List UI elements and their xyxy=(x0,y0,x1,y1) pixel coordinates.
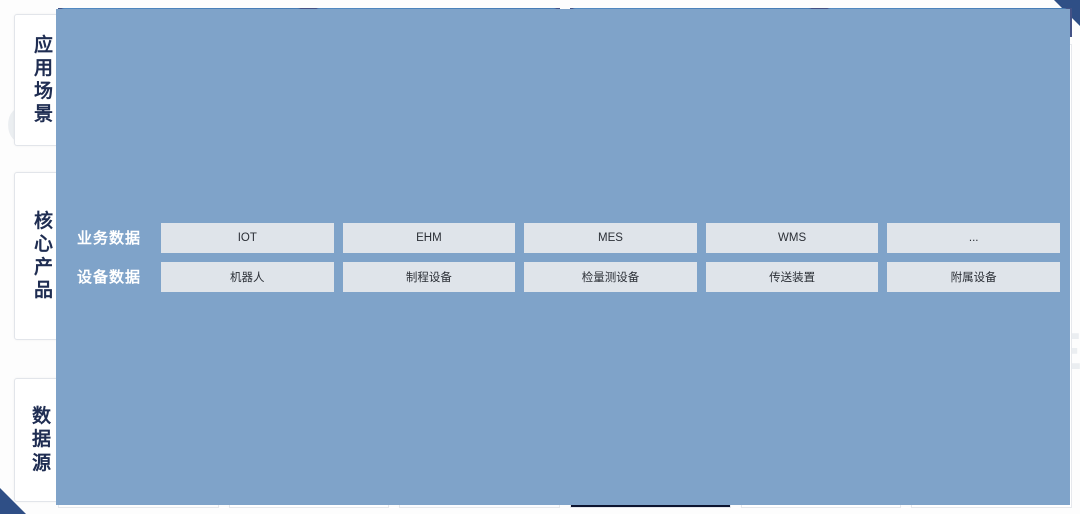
datasource-row-business: 业务数据 IOT EHM MES WMS ... xyxy=(66,223,1060,253)
app-label-char: 景 xyxy=(34,103,54,126)
datasource-cell-robot[interactable]: 机器人 xyxy=(161,262,334,292)
datasource-cell-process-equipment[interactable]: 制程设备 xyxy=(343,262,516,292)
core-label-char: 品 xyxy=(34,279,54,302)
data-label-char: 据 xyxy=(32,428,52,451)
datasource-cell-metrology-equipment[interactable]: 检量测设备 xyxy=(524,262,697,292)
datasource-grid: 业务数据 IOT EHM MES WMS ... 设备数据 机器人 制程设备 检… xyxy=(56,9,1070,505)
datasource-cell-mes[interactable]: MES xyxy=(524,223,697,253)
datasource-cell-wms[interactable]: WMS xyxy=(706,223,879,253)
app-label-char: 场 xyxy=(34,80,54,103)
data-label-char: 数 xyxy=(32,405,52,428)
datasource-row-equipment: 设备数据 机器人 制程设备 检量测设备 传送装置 附属设备 xyxy=(66,262,1060,292)
core-label-char: 心 xyxy=(34,233,54,256)
infographic-root: CHEJI CHEJI CHEJI CHEJI 应 用 场 景 异常预警 根因分… xyxy=(0,0,1080,514)
datasource-cell-iot[interactable]: IOT xyxy=(161,223,334,253)
app-label-char: 应 xyxy=(34,34,54,57)
data-label-char: 源 xyxy=(32,452,52,475)
app-label-char: 用 xyxy=(34,57,54,80)
datasource-cell-auxiliary-equipment[interactable]: 附属设备 xyxy=(887,262,1060,292)
datasource-row-label: 业务数据 xyxy=(66,223,152,253)
core-label-char: 核 xyxy=(34,210,54,233)
datasource-cell-ehm[interactable]: EHM xyxy=(343,223,516,253)
datasource-row-label: 设备数据 xyxy=(66,262,152,292)
datasource-cell-conveyor[interactable]: 传送装置 xyxy=(706,262,879,292)
core-label-char: 产 xyxy=(34,256,54,279)
datasource-cell-more[interactable]: ... xyxy=(887,223,1060,253)
